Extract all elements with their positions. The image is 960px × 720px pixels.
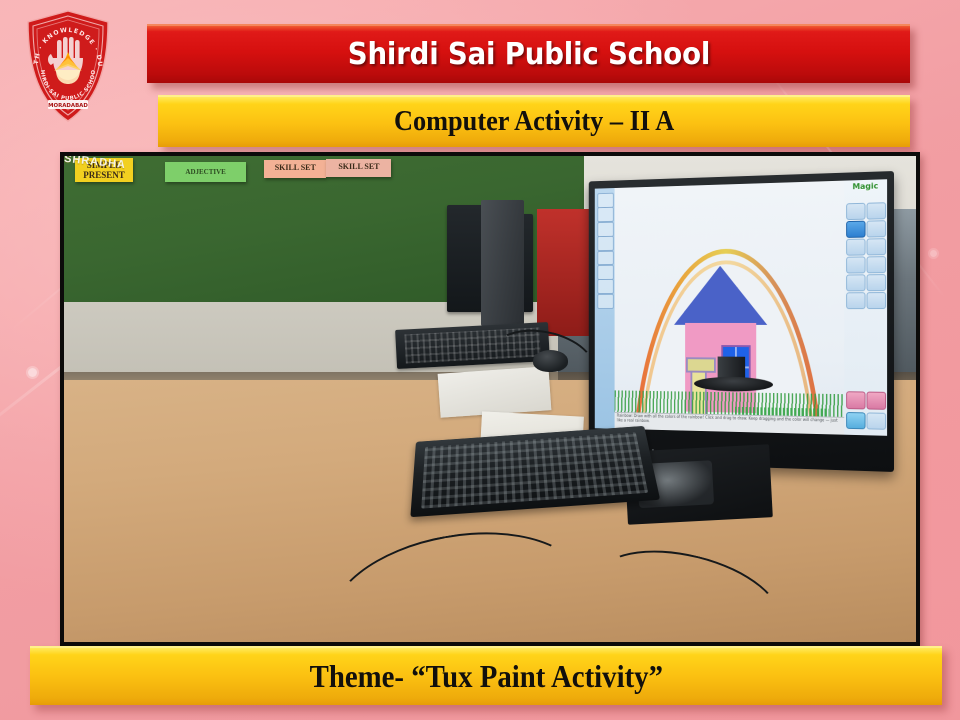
board-note: SKILL SET — [326, 159, 391, 176]
redo-button[interactable] — [867, 391, 887, 409]
board-note: ADJECTIVE — [165, 162, 246, 182]
eraser-button[interactable] — [846, 412, 866, 430]
tuxpaint-tool-button[interactable] — [598, 235, 614, 250]
crest-city-text: MORADABAD — [48, 103, 88, 109]
tuxpaint-drawing-canvas[interactable]: Rainbow: Draw with all the colors of the… — [615, 180, 845, 435]
tuxpaint-tool-button[interactable] — [598, 279, 614, 294]
theme-banner: Theme- “Tux Paint Activity” — [30, 646, 942, 705]
magic-tool-button[interactable] — [846, 202, 866, 220]
activity-photo-frame: SIMPLE PRESENT ADJECTIVE SKILL SET SKILL… — [60, 152, 920, 646]
undo-button[interactable] — [846, 391, 866, 409]
tuxpaint-magic-panel-title: Magic — [844, 181, 887, 191]
tuxpaint-tool-button[interactable] — [598, 206, 614, 221]
tuxpaint-tools-panel[interactable] — [595, 187, 614, 428]
magic-tool-button[interactable] — [867, 201, 887, 219]
magic-tool-button[interactable] — [867, 292, 887, 309]
tuxpaint-magic-panel[interactable]: Magic — [844, 178, 887, 435]
magic-tool-button[interactable] — [846, 238, 866, 256]
magic-tool-button[interactable] — [867, 238, 887, 256]
magic-tool-button[interactable] — [867, 274, 887, 292]
background-dot-decoration — [930, 250, 937, 257]
activity-subtitle-banner: Computer Activity – II A — [158, 95, 910, 147]
theme-title: Theme- “Tux Paint Activity” — [309, 658, 662, 695]
page-title: Shirdi Sai Public School — [347, 37, 709, 72]
activity-photo: SIMPLE PRESENT ADJECTIVE SKILL SET SKILL… — [64, 156, 916, 642]
tuxpaint-tool-button[interactable] — [598, 293, 614, 308]
tuxpaint-tool-button[interactable] — [598, 250, 614, 265]
magic-tool-button[interactable] — [846, 274, 866, 291]
school-title-banner: Shirdi Sai Public School — [147, 24, 910, 83]
monitor-screen: Rainbow: Draw with all the colors of the… — [595, 178, 887, 435]
magic-tool-button[interactable] — [846, 256, 866, 274]
school-crest-logo: FAITH · KNOWLEDGE · DUTY SHIRDI SAI PUBL… — [20, 8, 116, 126]
background-dot-decoration — [28, 368, 37, 377]
magic-tool-button[interactable] — [867, 220, 887, 238]
slide-canvas: FAITH · KNOWLEDGE · DUTY SHIRDI SAI PUBL… — [0, 0, 960, 720]
tuxpaint-tool-button[interactable] — [598, 264, 614, 279]
tuxpaint-tool-button[interactable] — [598, 221, 614, 236]
magic-tool-button[interactable] — [867, 256, 887, 274]
background-red-cabinet — [537, 209, 592, 335]
tuxpaint-tool-button[interactable] — [598, 192, 614, 207]
board-note: SKILL SET — [264, 160, 326, 178]
new-button[interactable] — [867, 412, 887, 430]
magic-tool-button-selected[interactable] — [846, 220, 866, 238]
magic-tool-button[interactable] — [846, 292, 866, 309]
background-computer-tower — [481, 200, 524, 326]
activity-subtitle: Computer Activity – II A — [394, 106, 674, 138]
